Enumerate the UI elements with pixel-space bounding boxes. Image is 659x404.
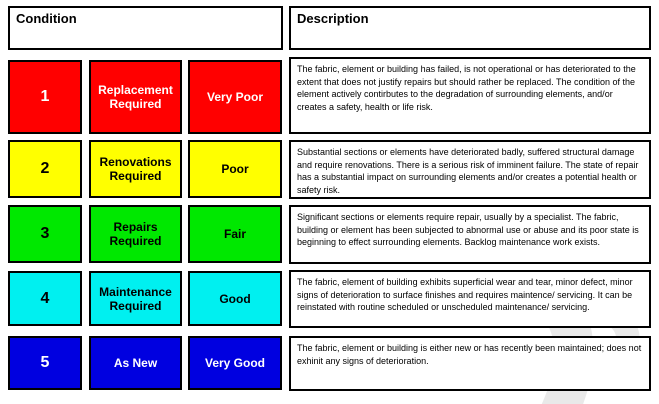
grade-cell-2: Poor [188,140,282,198]
rating-cell-2: 2 [8,140,82,198]
rating-cell-4: 4 [8,271,82,326]
rating-cell-1: 1 [8,60,82,134]
description-cell-1: The fabric, element or building has fail… [289,57,651,134]
description-cell-5: The fabric, element or building is eithe… [289,336,651,391]
grade-cell-5: Very Good [188,336,282,390]
condition-rating-table-page: Condition Description 1 Replacement Requ… [0,0,659,404]
description-cell-4: The fabric, element of building exhibits… [289,270,651,328]
grade-cell-1: Very Poor [188,60,282,134]
header-description: Description [289,6,651,50]
rating-cell-5: 5 [8,336,82,390]
grade-cell-3: Fair [188,205,282,263]
grade-cell-4: Good [188,271,282,326]
action-cell-4: Maintenance Required [89,271,182,326]
description-cell-2: Substantial sections or elements have de… [289,140,651,199]
rating-cell-3: 3 [8,205,82,263]
header-condition: Condition [8,6,283,50]
action-cell-1: Replacement Required [89,60,182,134]
action-cell-5: As New [89,336,182,390]
action-cell-3: Repairs Required [89,205,182,263]
action-cell-2: Renovations Required [89,140,182,198]
description-cell-3: Significant sections or elements require… [289,205,651,264]
